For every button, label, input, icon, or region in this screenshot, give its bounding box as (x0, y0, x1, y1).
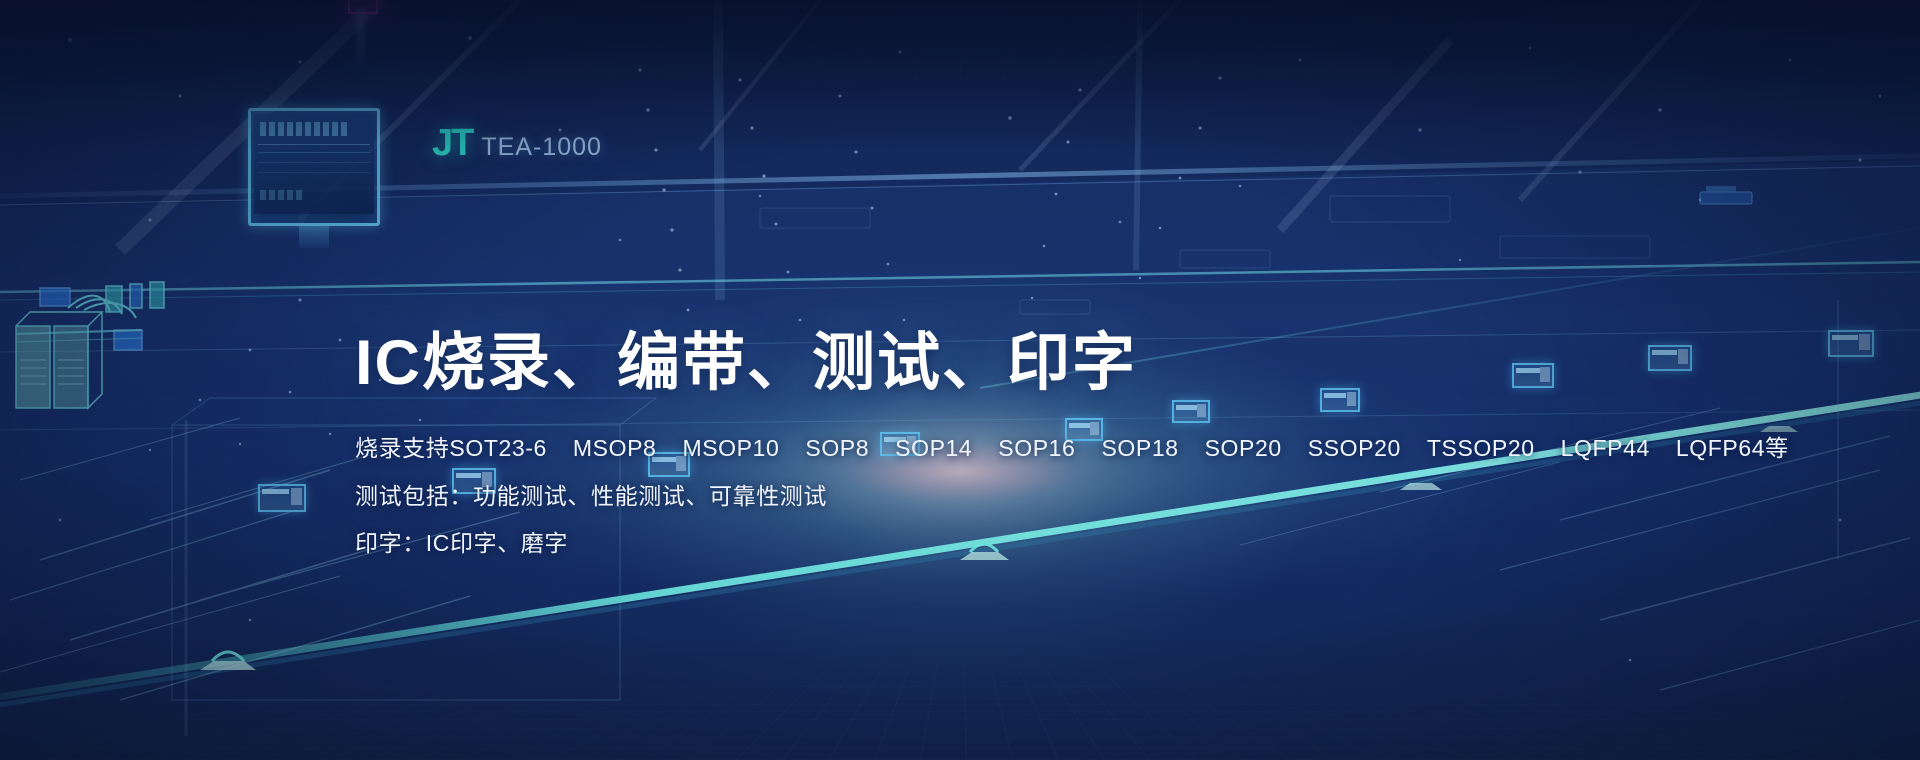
subtitle-line-marking: 印字：IC印字、磨字 (355, 524, 568, 558)
package-sop16: SOP16 (998, 435, 1075, 461)
package-tssop20: TSSOP20 (1427, 435, 1535, 461)
package-msop8: MSOP8 (573, 435, 657, 461)
hero-content: IC烧录、编带、测试、印字 烧录支持SOT23-6MSOP8MSOP10SOP8… (0, 0, 1920, 760)
package-sop20: SOP20 (1205, 435, 1282, 461)
package-lqfp44: LQFP44 (1561, 435, 1650, 461)
package-ssop20: SSOP20 (1308, 435, 1401, 461)
package-sop14: SOP14 (895, 435, 972, 461)
burn-support-prefix: 烧录支持SOT23-6 (355, 435, 547, 461)
page-title: IC烧录、编带、测试、印字 (355, 312, 1137, 403)
subtitle-line-burn-support: 烧录支持SOT23-6MSOP8MSOP10SOP8SOP14SOP16SOP1… (355, 429, 1789, 463)
package-sop18: SOP18 (1101, 435, 1178, 461)
package-sop8: SOP8 (805, 435, 869, 461)
package-lqfp64: LQFP64等 (1676, 435, 1789, 461)
package-msop10: MSOP10 (682, 435, 779, 461)
subtitle-line-testing: 测试包括：功能测试、性能测试、可靠性测试 (355, 477, 827, 511)
hero-banner: JT TEA-1000 IC烧录、编带、测试、印字 烧录支持SOT23-6MSO… (0, 0, 1920, 760)
